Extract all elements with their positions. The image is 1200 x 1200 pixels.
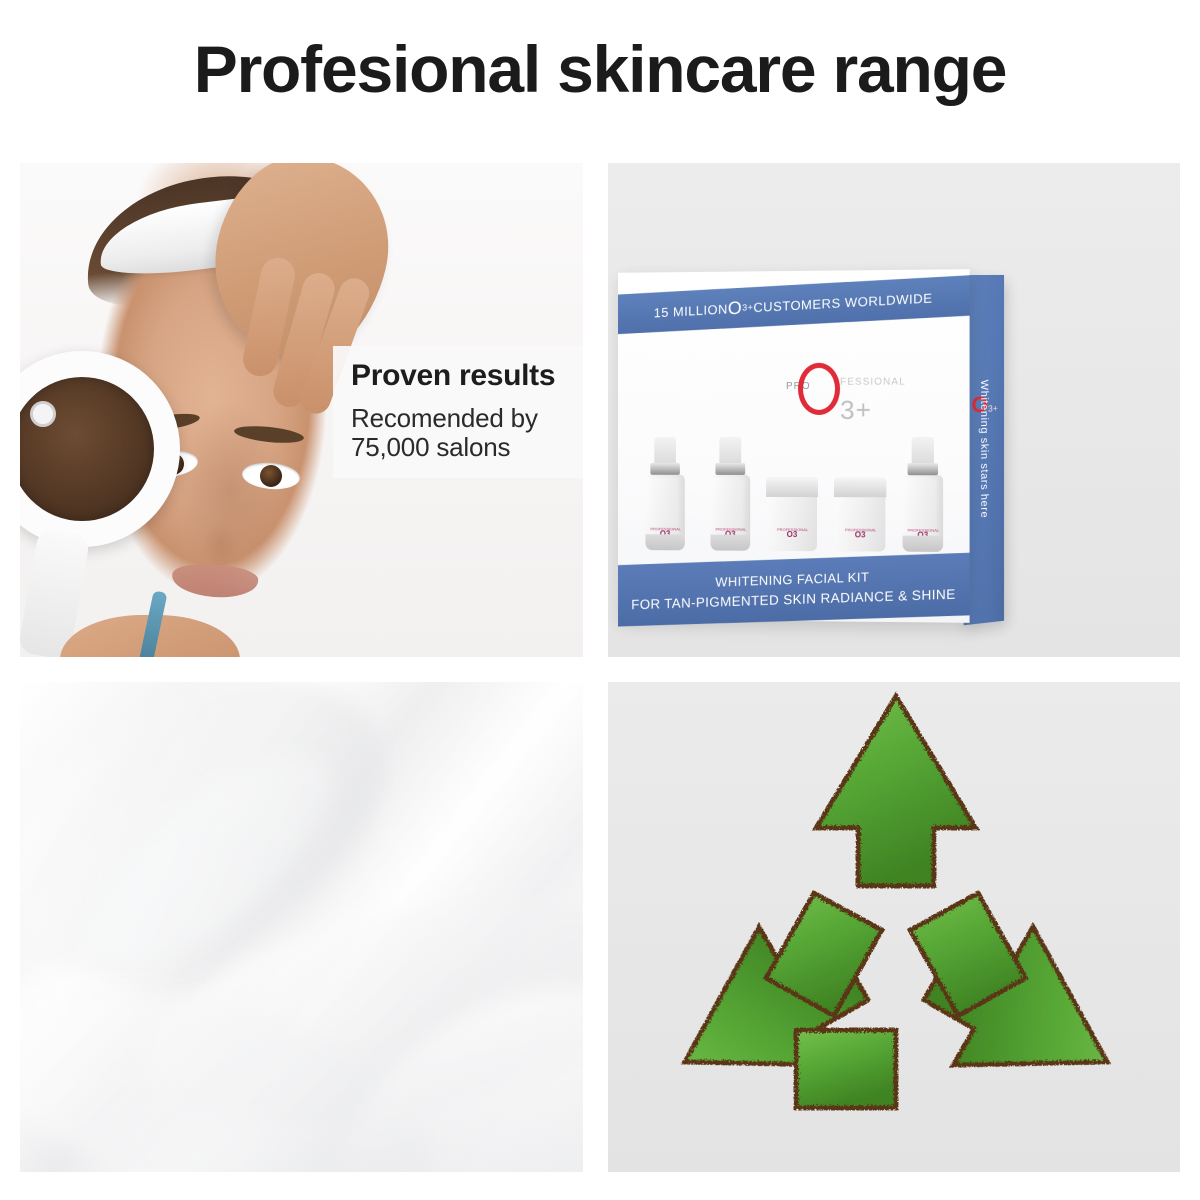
- white-cream-texture-photo: [20, 682, 583, 1172]
- product-bottle-cleanse: PROFESSIONAL O3: [645, 437, 684, 550]
- banner-o-glyph: O: [728, 297, 742, 319]
- box-brand-logo: PRO FESSIONAL 3+: [784, 354, 905, 429]
- label-logo: O3: [845, 532, 875, 537]
- bottle-body: PROFESSIONAL O3: [903, 475, 944, 552]
- panel-expert-salon-care: O3+ Whitening skin stars here 15 MILLION…: [608, 163, 1180, 657]
- lamp-knob-icon: [30, 401, 56, 427]
- bottle-cap: [654, 437, 676, 463]
- bottle-collar: [715, 463, 745, 475]
- bottle-body: PROFESSIONAL O3: [645, 475, 684, 551]
- product-bottle-repair: PROFESSIONAL O3: [903, 437, 944, 552]
- jar-body: PROFESSIONAL O3: [835, 497, 885, 551]
- nose-shading: [198, 503, 244, 565]
- side-panel-text: Whitening skin stars here: [978, 380, 990, 519]
- card-heading: Proven results: [351, 360, 583, 392]
- label-logo: O3: [650, 531, 680, 536]
- card-body: Recomended by 75,000 salons: [351, 404, 583, 462]
- whitening-facial-kit-box-photo: O3+ Whitening skin stars here 15 MILLION…: [608, 163, 1180, 657]
- recycle-arrows: [646, 682, 1146, 1172]
- jar-body: PROFESSIONAL O3: [767, 497, 817, 551]
- panel-sustainable-beauty: The future of sustainable beauty We are …: [608, 682, 1180, 1172]
- product-lineup: PROFESSIONAL O3 PROFESSIONAL O3: [632, 419, 956, 552]
- product-box-side-panel: O3+ Whitening skin stars here: [964, 275, 1004, 625]
- panel-proven-results: Proven results Recomended by 75,000 salo…: [20, 163, 583, 657]
- jar-cap: [766, 477, 818, 497]
- label-logo: O3: [777, 532, 807, 537]
- jar-cap: [834, 477, 886, 497]
- brand-ring-icon: [798, 363, 840, 415]
- bottle-cap: [719, 437, 741, 463]
- iris-right: [260, 465, 282, 487]
- bottle-collar: [650, 463, 680, 475]
- bottle-label: PROFESSIONAL O3: [908, 528, 938, 538]
- jar-label: PROFESSIONAL O3: [777, 527, 807, 537]
- bottle-label: PROFESSIONAL O3: [715, 527, 745, 537]
- banner-subscript: 3+: [742, 302, 753, 313]
- recycle-symbol-icon: [646, 682, 1146, 1172]
- panel-professional-grade-formulas: Professional grade formulas Committed to…: [20, 682, 583, 1172]
- card-proven-results: Proven results Recomended by 75,000 salo…: [333, 346, 583, 478]
- bottle-cap: [912, 437, 934, 463]
- banner-prefix: 15 MILLION: [654, 301, 728, 320]
- jar-label: PROFESSIONAL O3: [845, 527, 875, 537]
- product-jar-prepare: PROFESSIONAL O3: [834, 477, 886, 552]
- bottle-collar: [908, 463, 938, 475]
- brand-pro-right: FESSIONAL: [840, 377, 906, 388]
- product-bottle-tone: PROFESSIONAL O3: [711, 437, 751, 551]
- product-box-front: 15 MILLION O3+ CUSTOMERS WORLDWIDE PRO F…: [618, 269, 970, 623]
- bottle-label: PROFESSIONAL O3: [650, 526, 680, 536]
- bottle-body: PROFESSIONAL O3: [711, 475, 751, 551]
- banner-suffix: CUSTOMERS WORLDWIDE: [753, 290, 932, 315]
- grass-recycle-symbol-photo: [608, 682, 1180, 1172]
- page-title: Profesional skincare range: [0, 36, 1200, 102]
- box-bottom-banner: WHITENING FACIAL KIT FOR TAN-PIGMENTED S…: [618, 553, 970, 627]
- marketing-infographic: Profesional skincare range: [0, 0, 1200, 1200]
- box-top-banner: 15 MILLION O3+ CUSTOMERS WORLDWIDE: [618, 275, 970, 334]
- product-jar-massage: PROFESSIONAL O3: [766, 477, 818, 551]
- label-logo: O3: [908, 533, 938, 538]
- label-logo: O3: [715, 532, 745, 537]
